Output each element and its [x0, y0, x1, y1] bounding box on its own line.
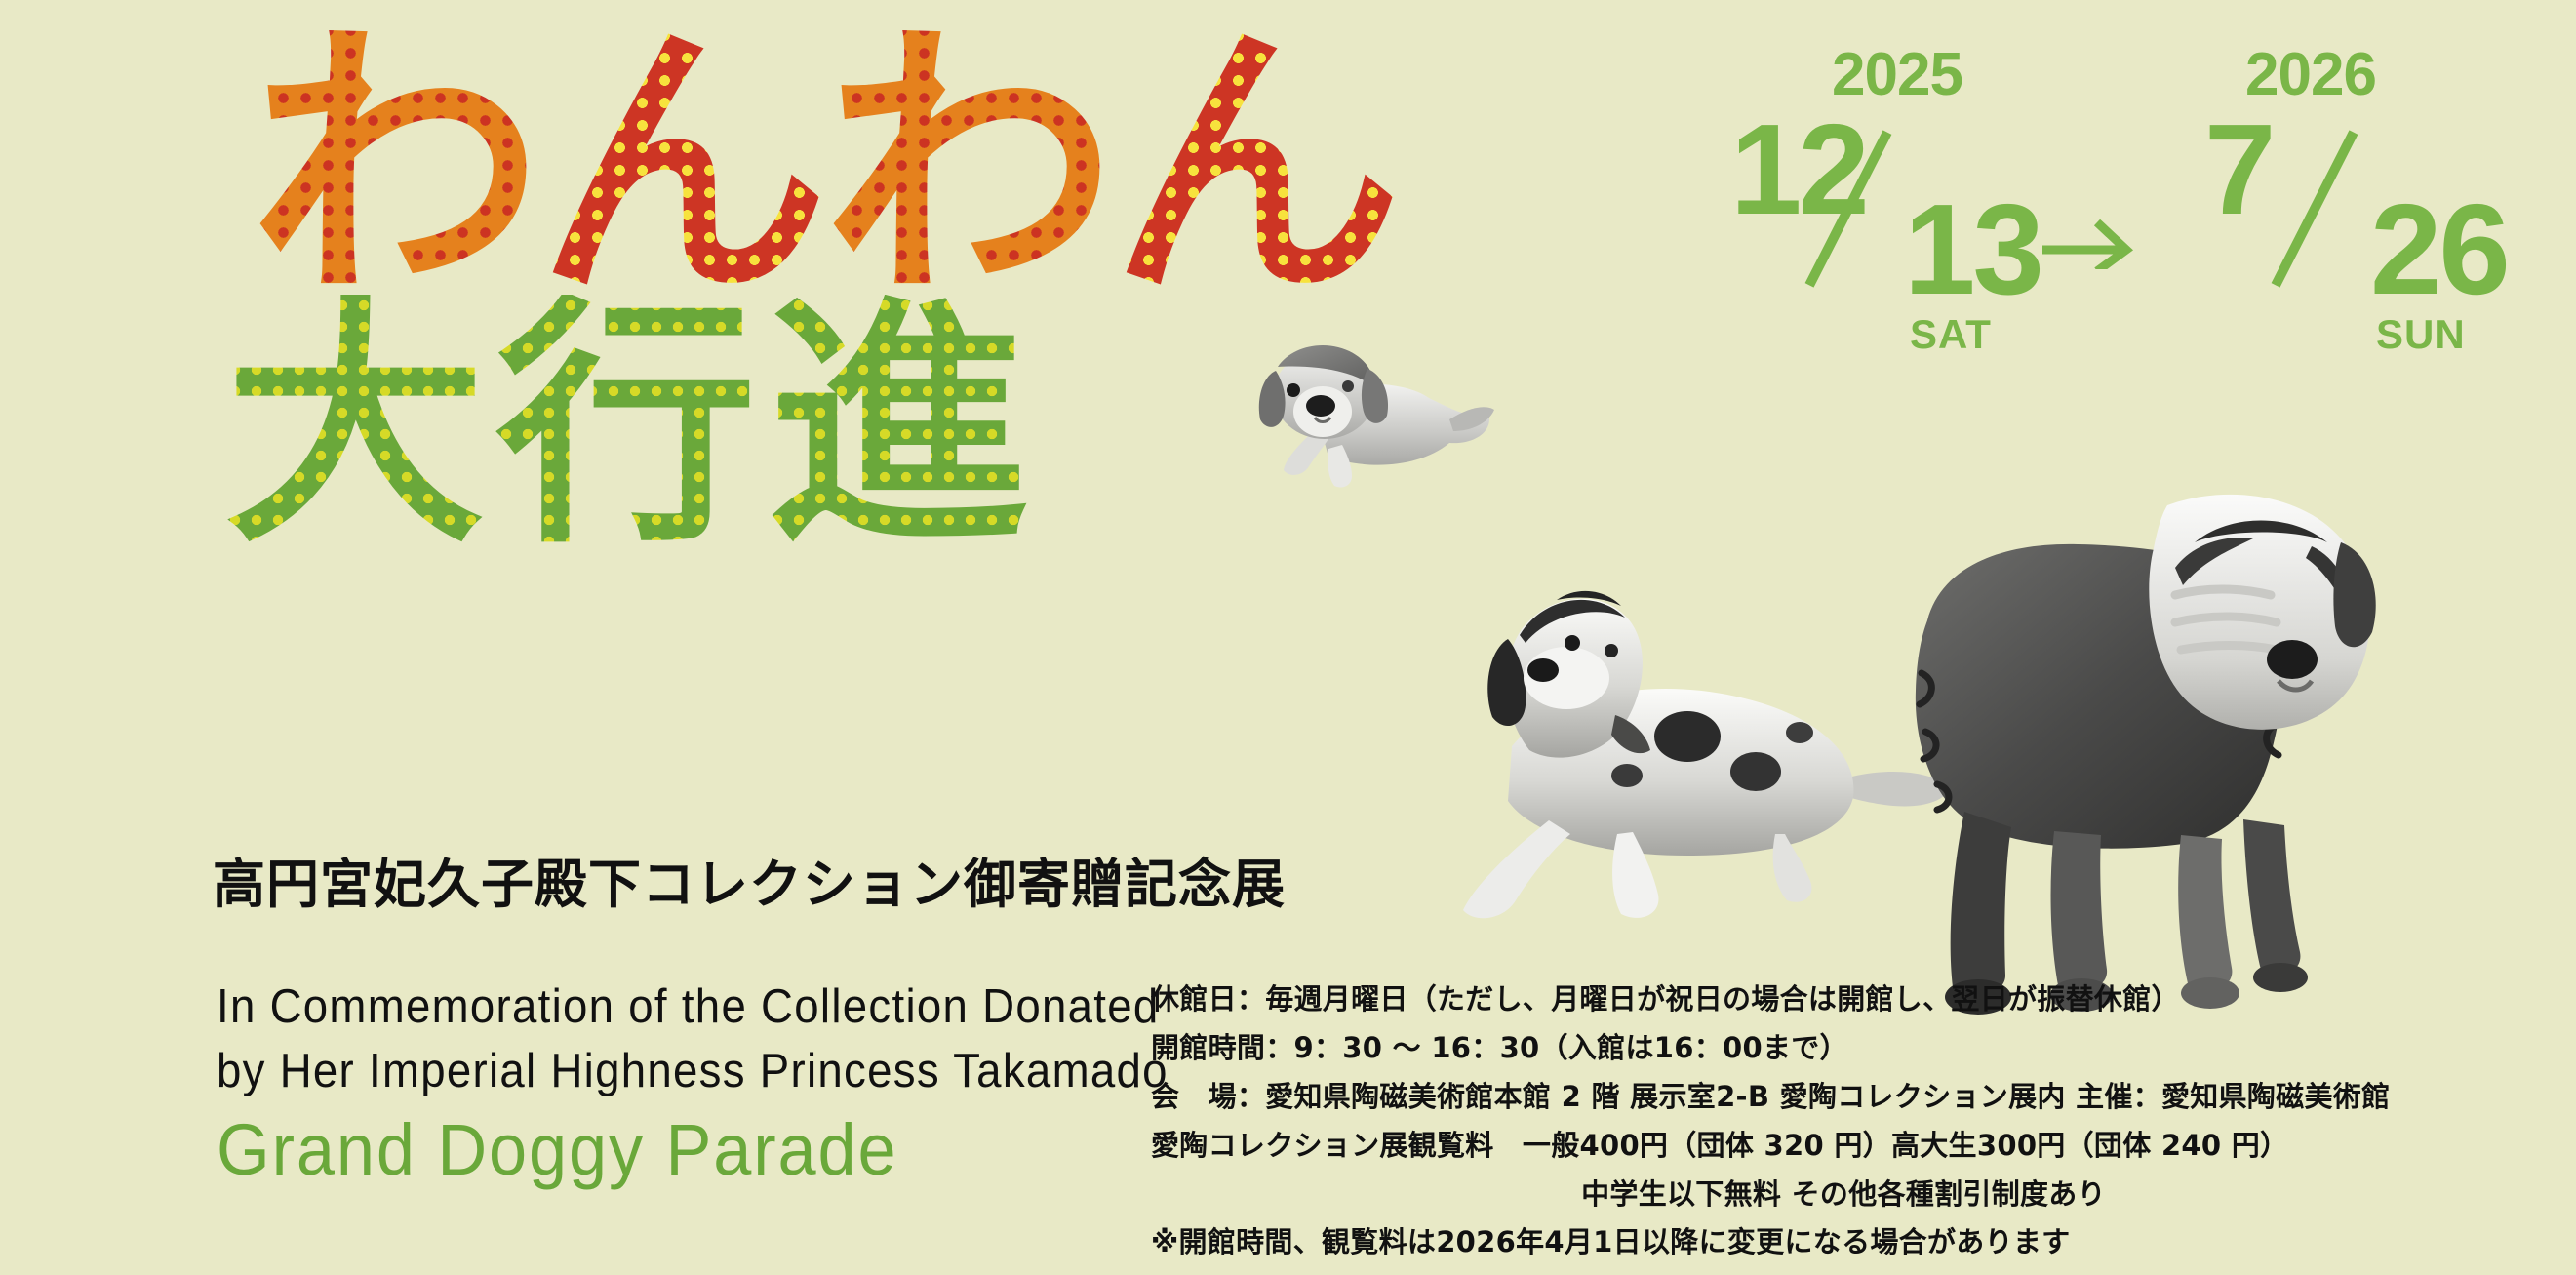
- info-venue: 会 場：愛知県陶磁美術館本館 2 階 展示室2-B 愛陶コレクション展内 主催：…: [1151, 1073, 2536, 1122]
- headline-glyph-n-2: ん: [1110, 20, 1397, 312]
- poster-headline: わ ん わ ん 大 行 進: [234, 20, 1756, 556]
- headline-glyph-kou: 行: [495, 295, 767, 556]
- info-opening-hours: 開館時間：9：30 〜 16：30（入館は16：00まで）: [1151, 1024, 2536, 1073]
- headline-row-wanwan: わ ん わ ん: [250, 20, 1756, 312]
- english-title: Grand Doggy Parade: [217, 1114, 898, 1186]
- headline-glyph-dai: 大: [224, 295, 495, 556]
- puppy-lying-figurine: [1219, 322, 1502, 493]
- subtitle-english: In Commemoration of the Collection Donat…: [217, 976, 1169, 1103]
- end-weekday: SUN: [2376, 314, 2466, 355]
- start-day: 13: [1904, 185, 2041, 314]
- end-day: 26: [2370, 185, 2508, 314]
- info-note: ※開館時間、観覧料は2026年4月1日以降に変更になる場合があります: [1151, 1218, 2536, 1267]
- info-admission-free: 中学生以下無料 その他各種割引制度あり: [1151, 1171, 2536, 1219]
- end-year: 2026: [2245, 45, 2376, 105]
- info-admission: 愛陶コレクション展観覧料 一般400円（団体 320 円）高大生300円（団体 …: [1151, 1122, 2536, 1171]
- exhibition-info-block: 休館日：毎週月曜日（ただし、月曜日が祝日の場合は開館し、翌日が振替休館） 開館時…: [1151, 976, 2536, 1267]
- subtitle-english-line1: In Commemoration of the Collection Donat…: [217, 976, 1169, 1040]
- subtitle-japanese: 高円宮妃久子殿下コレクション御寄贈記念展: [213, 858, 1286, 911]
- headline-row-daikoushin: 大 行 進: [224, 295, 1756, 556]
- sheepdog-standing-figurine: [1882, 449, 2429, 1054]
- headline-glyph-n-1: ん: [536, 20, 823, 312]
- arrow-right-icon: [2041, 211, 2136, 269]
- end-month: 7: [2204, 105, 2272, 234]
- headline-glyph-wa-2: わ: [823, 20, 1110, 312]
- subtitle-english-line2: by Her Imperial Highness Princess Takama…: [217, 1040, 1169, 1104]
- exhibition-date-range: 2025 12 13 SAT 2026 7 26 SUN: [1726, 45, 2526, 396]
- headline-glyph-wa-1: わ: [250, 20, 536, 312]
- info-closed-days: 休館日：毎週月曜日（ただし、月曜日が祝日の場合は開館し、翌日が振替休館）: [1151, 976, 2536, 1024]
- start-year: 2025: [1832, 45, 1962, 105]
- date-slash-icon: [2272, 130, 2358, 287]
- start-weekday: SAT: [1910, 314, 1992, 355]
- headline-glyph-shin: 進: [767, 295, 1038, 556]
